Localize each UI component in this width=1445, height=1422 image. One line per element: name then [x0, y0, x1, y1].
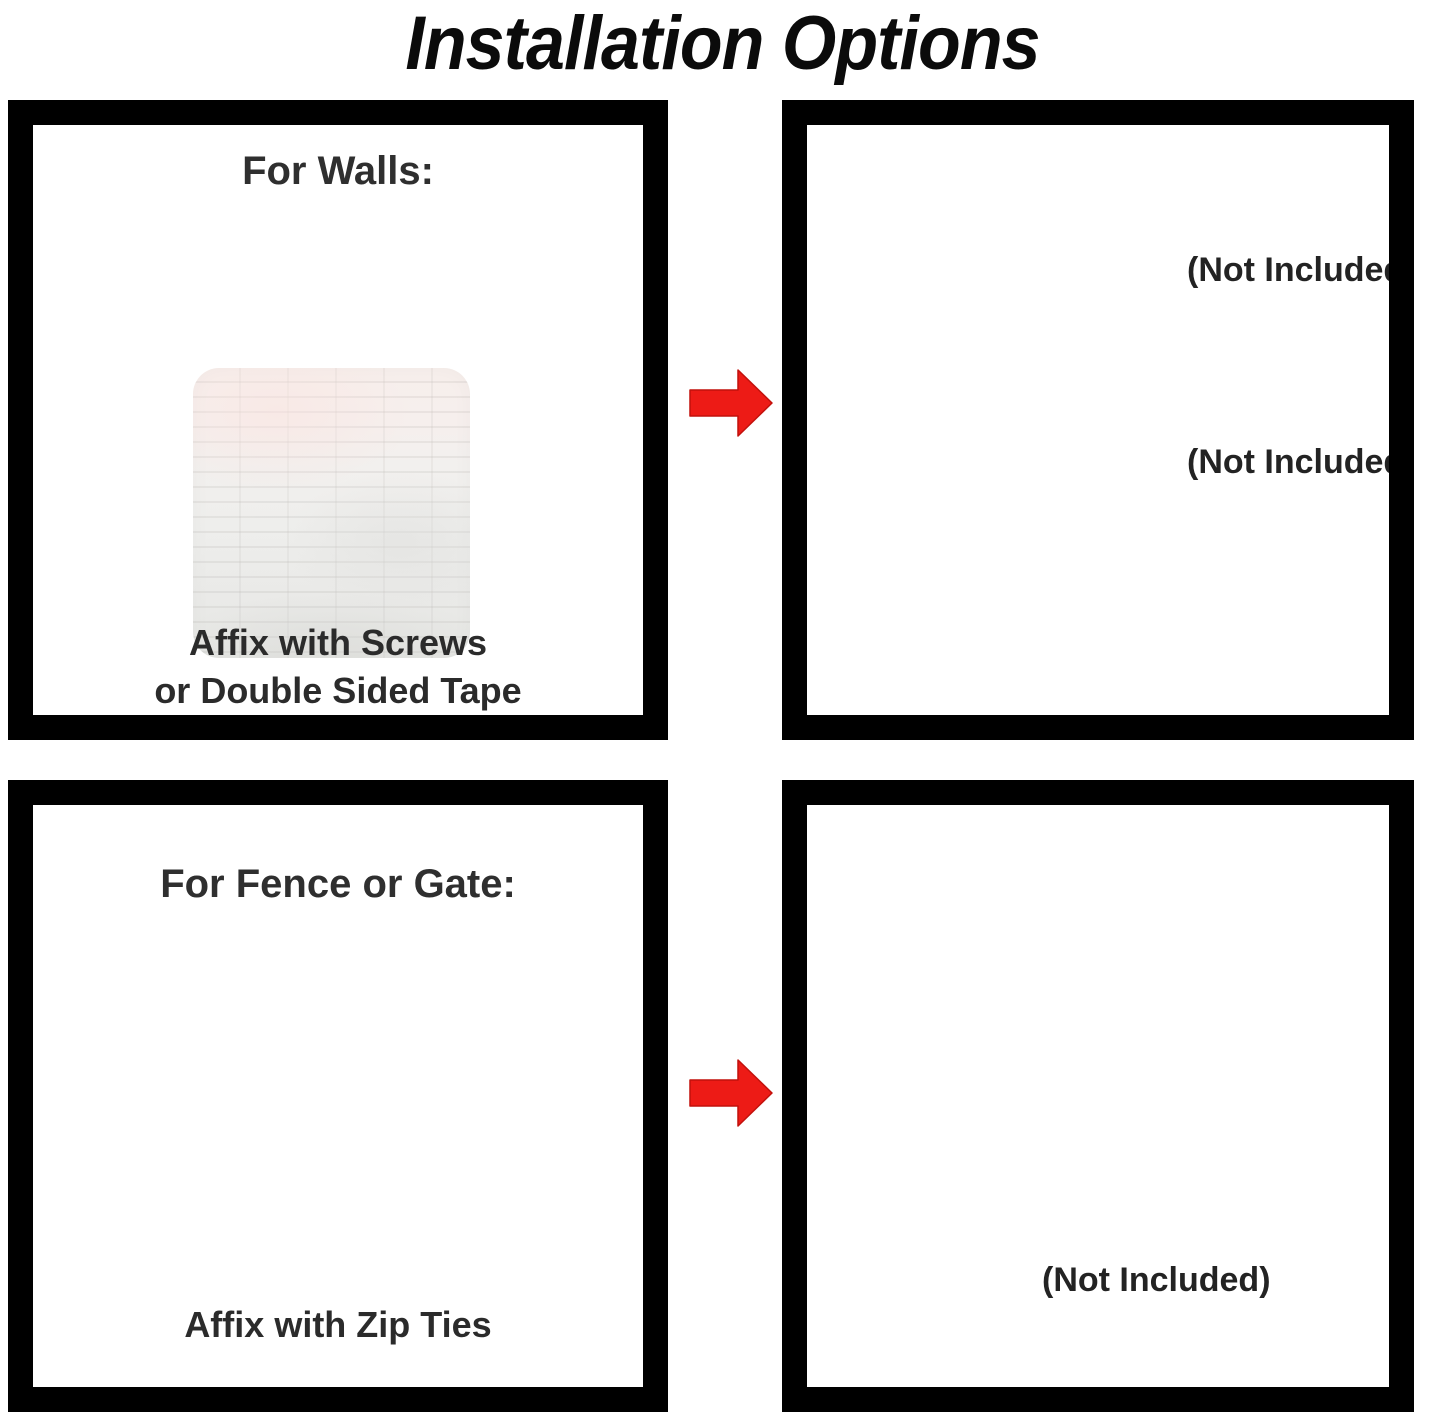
screws-not-included-label: (Not Included): [1187, 442, 1389, 482]
panel-wall-hardware: (Not Included): [782, 100, 1414, 740]
brick-mottle-texture: [193, 368, 470, 658]
panel-fence-hardware: (Not Included): [782, 780, 1414, 1412]
panel-for-fence-or-gate: For Fence or Gate:: [8, 780, 668, 1412]
panel-fence-hardware-content: (Not Included): [807, 805, 1389, 1387]
tape-not-included-label: (Not Included): [1187, 250, 1389, 290]
for-walls-caption-line-2: or Double Sided Tape: [33, 668, 643, 714]
for-fence-heading: For Fence or Gate:: [33, 860, 643, 908]
panel-wall-hardware-content: (Not Included): [807, 125, 1389, 715]
panel-for-fence-content: For Fence or Gate:: [33, 805, 643, 1387]
white-brick-wall-image: [193, 368, 470, 658]
for-walls-caption-line-1: Affix with Screws: [33, 620, 643, 666]
panel-for-walls-content: For Walls: Affix with Screws or Double S…: [33, 125, 643, 715]
red-right-arrow-icon: [688, 366, 774, 440]
ziptie-not-included-label: (Not Included): [1042, 1260, 1271, 1300]
for-fence-caption: Affix with Zip Ties: [33, 1302, 643, 1348]
for-walls-heading: For Walls:: [33, 147, 643, 195]
page-title: Installation Options: [58, 0, 1387, 92]
panel-for-walls: For Walls: Affix with Screws or Double S…: [8, 100, 668, 740]
red-right-arrow-icon: [688, 1056, 774, 1130]
